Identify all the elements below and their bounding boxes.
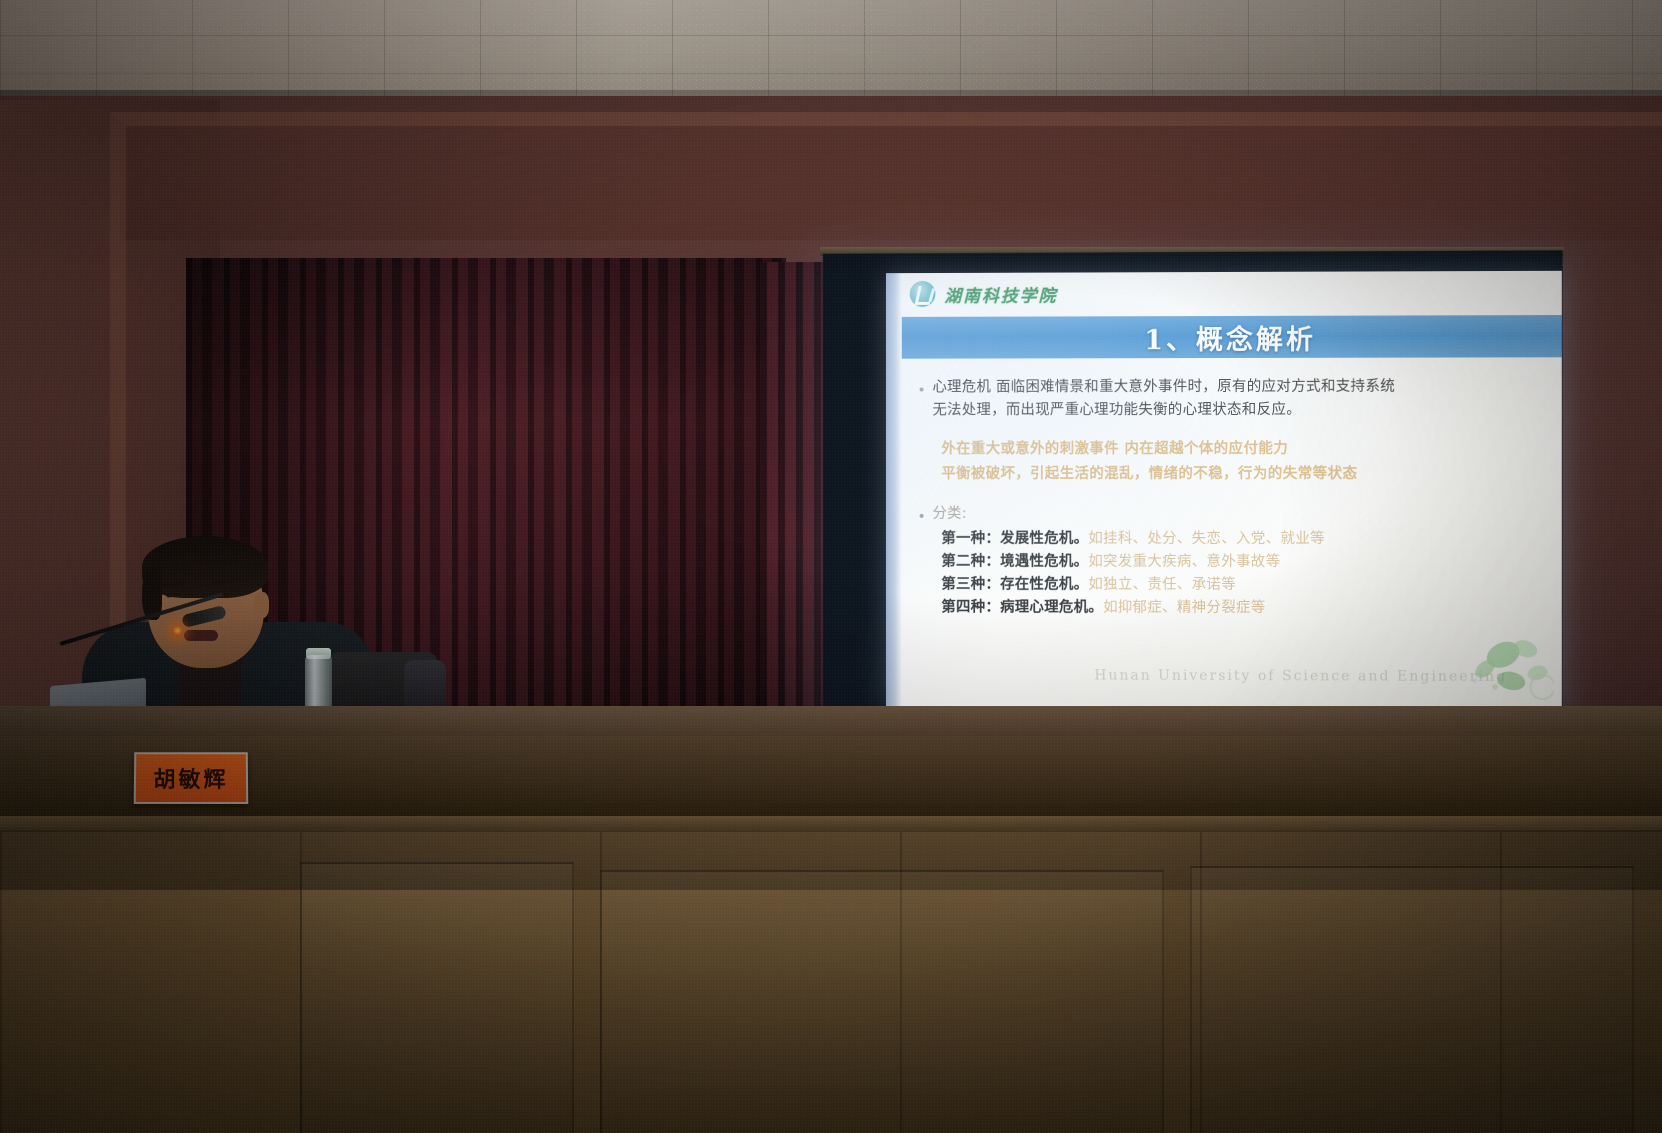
screenshot-stage: 湖南科技学院 1、概念解析 心理危机 面临困难情景和重大意外事件时，原有的应对方… xyxy=(0,0,1662,1133)
wall-vignette xyxy=(0,90,1662,890)
